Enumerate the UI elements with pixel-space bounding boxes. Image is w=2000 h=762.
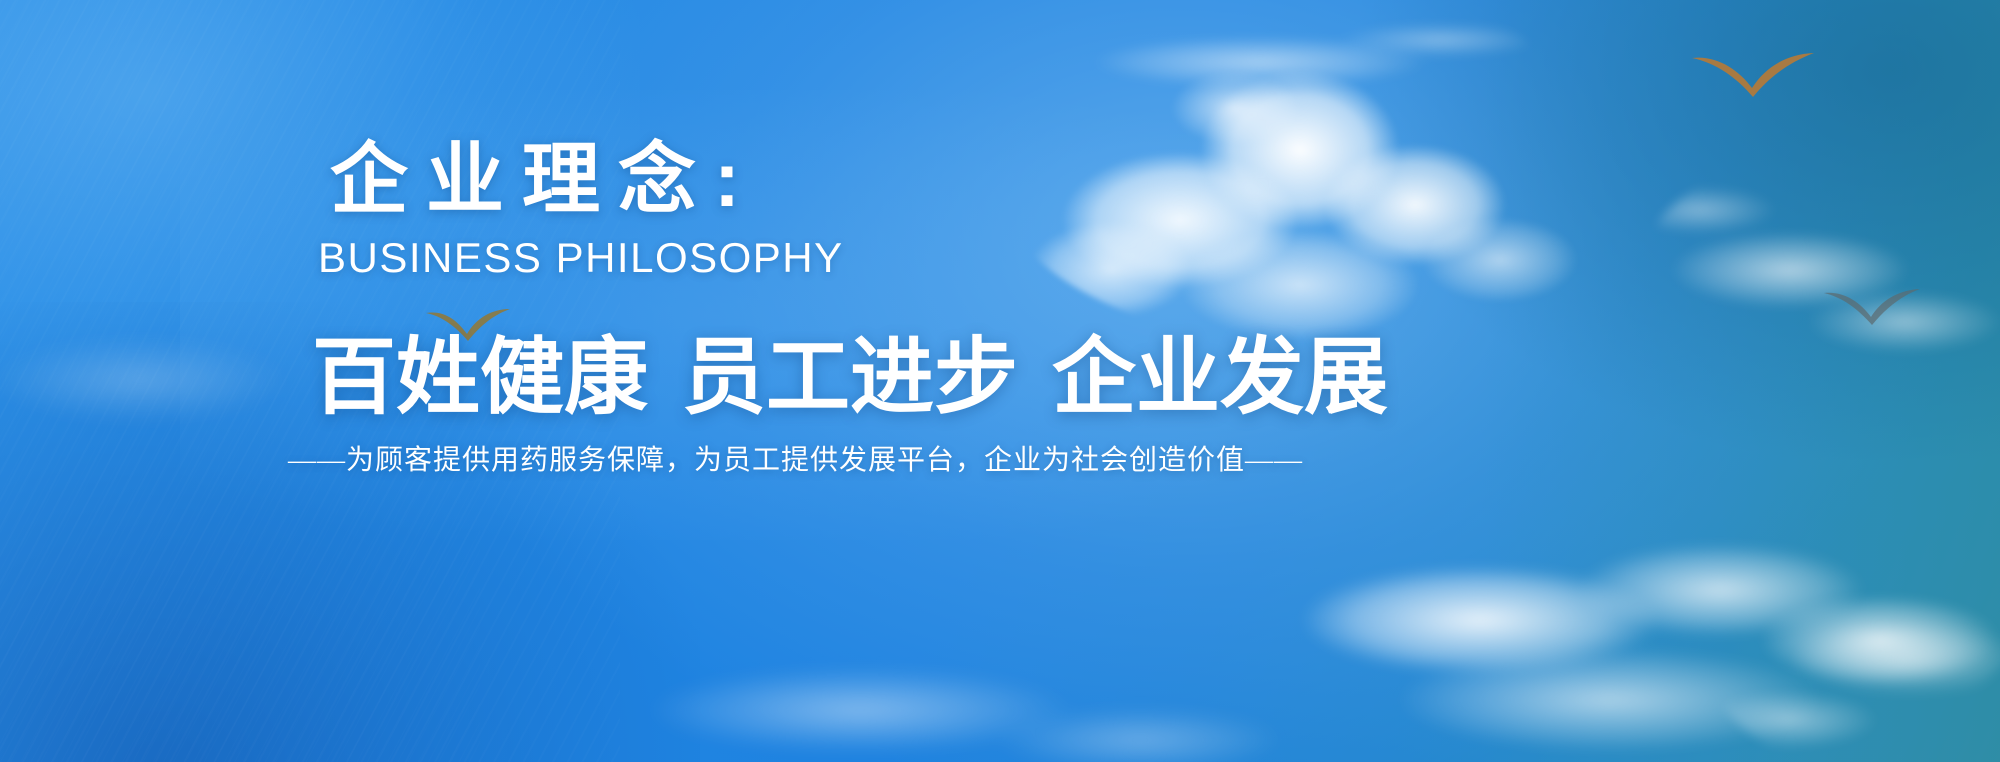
slogan-part-3: 企业发展 <box>1052 330 1388 424</box>
slogan-part-2: 员工进步 <box>682 330 1018 424</box>
page-subtitle-english: BUSINESS PHILOSOPHY <box>318 237 844 279</box>
business-philosophy-banner: 企业理念: BUSINESS PHILOSOPHY 百姓健康员工进步企业发展 —… <box>0 0 2000 762</box>
slogan-part-1: 百姓健康 <box>312 330 648 424</box>
bird-right-gray-icon <box>1822 288 1922 326</box>
tagline-text: ——为顾客提供用药服务保障，为员工提供发展平台，企业为社会创造价值—— <box>288 438 1298 478</box>
page-title-chinese: 企业理念: <box>330 140 758 218</box>
banner-text-content: 企业理念: BUSINESS PHILOSOPHY 百姓健康员工进步企业发展 —… <box>0 0 1600 762</box>
bird-top-right-brown-icon <box>1690 52 1816 98</box>
slogan-line: 百姓健康员工进步企业发展 <box>312 330 1388 424</box>
